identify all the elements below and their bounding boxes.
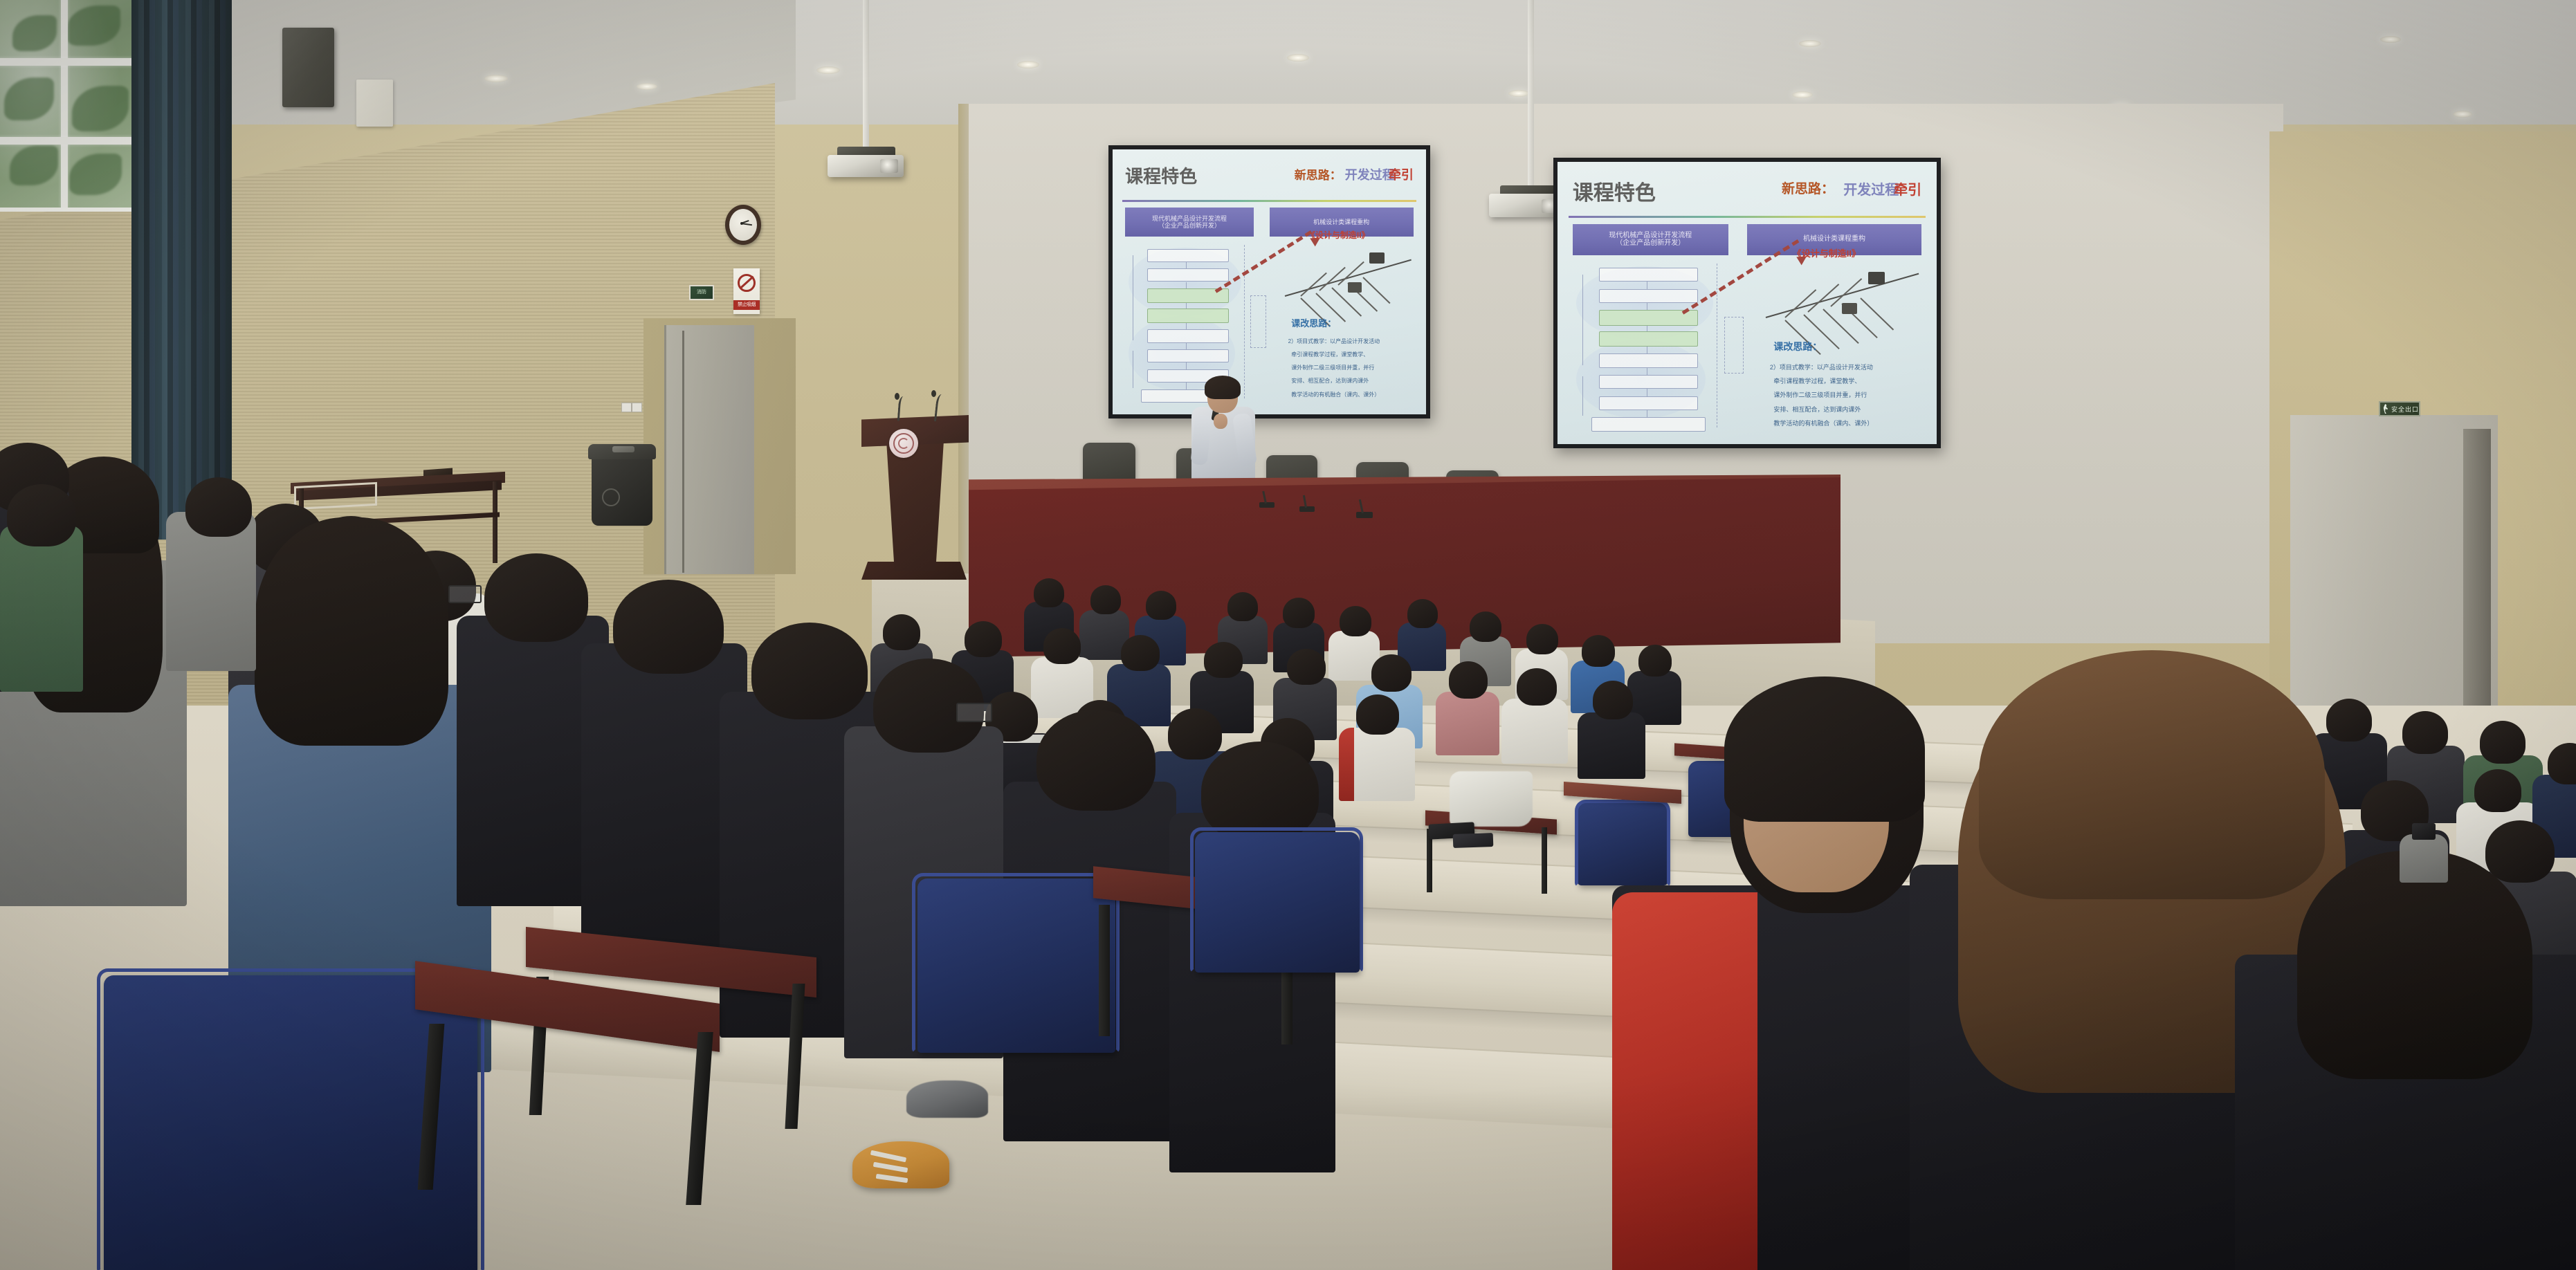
slide-course-label: 《设计与制造II》 [1307, 229, 1370, 241]
audience-hair-top [1979, 650, 2325, 899]
desk-microphone-base [1356, 512, 1373, 518]
slide-subtitle-accent: 牵引 [1894, 178, 1921, 199]
slide-reform-title: 课改思路： [1291, 316, 1336, 329]
auditorium-seat[interactable] [104, 975, 477, 1270]
ceiling-light [1017, 61, 1039, 68]
audience-head [1340, 606, 1371, 636]
projector-lens-icon [880, 159, 898, 173]
audience-head [1517, 668, 1557, 706]
window-frame [0, 0, 138, 212]
audience-head [2402, 711, 2448, 754]
projector-mount-pole [1528, 0, 1534, 190]
audience-head [1582, 635, 1615, 667]
audience-head [1204, 642, 1243, 678]
clock-center-pin [740, 222, 743, 225]
auditorium-seat-rim [1575, 800, 1670, 887]
podium-microphone-head [931, 390, 936, 397]
projector-mount-pole [863, 0, 869, 151]
audience-head [1449, 661, 1488, 699]
audience-head [1121, 635, 1160, 671]
audience-head [2485, 820, 2555, 883]
left-door[interactable] [664, 325, 754, 574]
desk-support [1099, 905, 1110, 1036]
trash-bin-flap[interactable] [612, 446, 634, 452]
audience-hair-top [1724, 677, 1925, 822]
slide-right: 课程特色 新思路： 开发过程 牵引 现代机械产品设计开发流程 （企业产品创新开发… [1558, 162, 1937, 444]
slide-subtitle-accent: 牵引 [1389, 165, 1414, 183]
audience-torso [1501, 699, 1568, 764]
curtain-shading [131, 0, 232, 540]
clock-face [729, 209, 757, 241]
podium-microphone-head [895, 393, 899, 400]
audience-head [883, 614, 920, 650]
fire-safety-sign: 消防 [689, 285, 714, 300]
ceiling-light [2380, 36, 2401, 43]
slide-body-line: 安排、相互配合，达到课内课外 [1773, 405, 1861, 414]
slide-header-left: 现代机械产品设计开发流程 （企业产品创新开发） [1125, 208, 1254, 237]
audience-head [1638, 645, 1672, 677]
slide-divider-rule [1122, 200, 1417, 202]
slide-subtitle-label: 新思路： [1295, 165, 1342, 183]
audience-head [1034, 578, 1064, 607]
audience-torso [1578, 712, 1645, 779]
light-switch-divider [631, 403, 632, 412]
slide-body-line: 2）项目式教学：以产品设计开发活动 [1770, 362, 1873, 371]
projection-screen-right: 课程特色 新思路： 开发过程 牵引 现代机械产品设计开发流程 （企业产品创新开发… [1553, 158, 1941, 448]
audience-head [1470, 611, 1501, 642]
projection-screen-left: 课程特色 新思路： 开发过程 牵引 现代机械产品设计开发流程 （企业产品创新开发… [1108, 145, 1430, 418]
slide-body-line: 教学活动的有机融合（课内、课外） [1773, 418, 1873, 427]
audience-torso [2400, 834, 2448, 883]
audience-head [1227, 592, 1258, 621]
slide-body-line: 课外制作二级三级项目并重，并行 [1291, 364, 1374, 371]
audience-torso [0, 526, 83, 692]
ceiling-light [1508, 90, 1529, 97]
emblem-mark-icon [898, 438, 909, 449]
slide-subtitle-label: 新思路： [1782, 178, 1834, 197]
back-table-shelf [294, 482, 377, 510]
exit-sign: 安全出口 [2379, 401, 2420, 416]
slide-body-line: 牵引课程教学过程，课堂教学、 [1291, 351, 1369, 358]
ceiling-light [637, 83, 657, 90]
slide-subtitle-highlight: 开发过程 [1345, 165, 1395, 183]
audience-head [1090, 585, 1121, 614]
recycle-icon [602, 488, 620, 506]
smartphone[interactable] [2412, 823, 2436, 840]
slide-subtitle-highlight: 开发过程 [1843, 178, 1899, 199]
audience-head [613, 580, 724, 674]
lecture-hall-photo: 禁止吸烟 消防 安全出口 课程特色 新思路： 开发过程 牵引 现代机械产品设计开… [0, 0, 2576, 1270]
slide-title: 课程特色 [1573, 176, 1656, 206]
audience-head [1283, 598, 1315, 628]
audience-head [965, 621, 1002, 657]
audience-head [1201, 742, 1319, 841]
presenter-hand [1214, 414, 1227, 429]
wall-speaker-icon [282, 28, 334, 107]
audience-long-hair [255, 517, 448, 746]
slide-header-left: 现代机械产品设计开发流程 （企业产品创新开发） [1573, 224, 1728, 255]
slide-body-line: 安排、相互配合，达到课内课外 [1291, 377, 1369, 385]
no-smoking-band-label: 禁止吸烟 [733, 301, 760, 309]
audience-jersey-trim [1339, 728, 1354, 801]
audience-head [2474, 769, 2521, 812]
auditorium-seat[interactable] [917, 878, 1115, 1053]
table-leg [493, 481, 497, 563]
audience-head [1407, 599, 1438, 628]
podium-microphone-stem [897, 396, 910, 421]
audience-head [1526, 624, 1558, 654]
sneaker [906, 1080, 988, 1118]
audience-long-hair [2297, 851, 2532, 1079]
audience-head [1146, 591, 1176, 620]
exit-sign-label: 安全出口 [2391, 405, 2419, 414]
audience-head [2480, 721, 2525, 764]
ceiling-light [816, 66, 840, 74]
slide-body-line: 教学活动的有机融合（课内、课外） [1291, 391, 1380, 398]
slide-title: 课程特色 [1125, 163, 1197, 188]
audience-head [1036, 710, 1155, 811]
audience-head [1287, 649, 1326, 685]
ceiling-light [1799, 40, 1821, 47]
audience-head [484, 553, 588, 642]
running-person-icon [2382, 404, 2389, 414]
audience-head [1043, 628, 1081, 664]
slide-body-line: 牵引课程教学过程，课堂教学、 [1773, 376, 1861, 385]
slide-reform-title: 课改思路： [1773, 340, 1822, 353]
slide-left: 课程特色 新思路： 开发过程 牵引 现代机械产品设计开发流程 （企业产品创新开发… [1113, 149, 1426, 414]
desk-support [1542, 827, 1547, 894]
ceiling-light [1287, 54, 1309, 62]
auditorium-seat[interactable] [1195, 832, 1360, 973]
smartphone[interactable] [1453, 833, 1494, 848]
audience-head [751, 623, 868, 719]
audience-head [7, 484, 76, 546]
audience-head [1371, 654, 1412, 692]
audience-head [1593, 681, 1633, 719]
slide-course-label: 《设计与制造II》 [1793, 246, 1861, 259]
audience-head [1168, 708, 1222, 760]
wall-control-panel[interactable] [356, 80, 393, 127]
trash-bin [592, 450, 652, 526]
ceiling-light [2453, 111, 2472, 118]
slide-body-line: 课外制作二级三级项目并重，并行 [1773, 390, 1867, 399]
audience-head [185, 477, 252, 537]
audience-head [2326, 699, 2372, 742]
slide-body-line: 2）项目式教学：以产品设计开发活动 [1288, 338, 1380, 345]
presenter-hair [1205, 376, 1241, 399]
audience-torso [1436, 692, 1499, 755]
ceiling-light [484, 75, 508, 82]
eyeglasses [448, 585, 482, 603]
left-door-seam [682, 331, 684, 573]
slide-divider-rule [1569, 216, 1925, 218]
eyeglasses [956, 703, 992, 722]
audience-red-hoodie [1612, 892, 1757, 1270]
white-plastic-bag [1450, 771, 1533, 827]
audience-head [1356, 694, 1399, 735]
ceiling-light [1792, 91, 1813, 98]
